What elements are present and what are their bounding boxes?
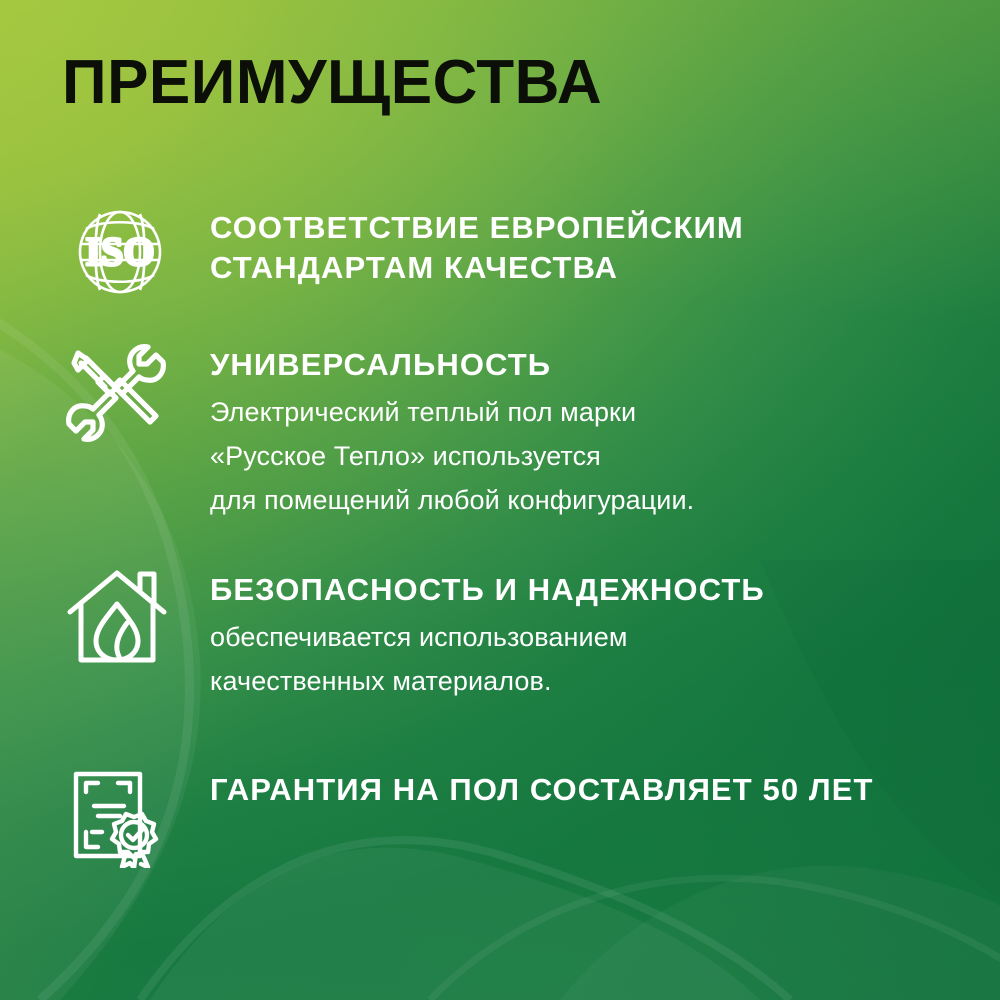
feature-body-line: обеспечивается использованием xyxy=(210,616,940,660)
feature-body-line: Электрический теплый пол марки xyxy=(210,391,940,435)
feature-body: Электрический теплый пол марки «Русское … xyxy=(210,391,940,522)
feature-body-line: для помещений любой конфигурации. xyxy=(210,479,940,523)
feature-body-line: качественных материалов. xyxy=(210,660,940,704)
promo-slide: ПРЕИМУЩЕСТВА ISO СООТВЕТСТ xyxy=(0,0,1000,1000)
feature-heading: ГАРАНТИЯ НА ПОЛ СОСТАВЛЯЕТ 50 ЛЕТ xyxy=(210,770,940,810)
feature-heading: СООТВЕТСТВИЕ ЕВРОПЕЙСКИМ СТАНДАРТАМ КАЧЕ… xyxy=(210,208,940,289)
feature-text-cell: СООТВЕТСТВИЕ ЕВРОПЕЙСКИМ СТАНДАРТАМ КАЧЕ… xyxy=(210,206,940,289)
feature-heading-line: БЕЗОПАСНОСТЬ И НАДЕЖНОСТЬ xyxy=(210,572,765,607)
feature-heading: БЕЗОПАСНОСТЬ И НАДЕЖНОСТЬ xyxy=(210,570,940,610)
feature-heading-line: УНИВЕРСАЛЬНОСТЬ xyxy=(210,347,551,382)
feature-body: обеспечивается использованием качественн… xyxy=(210,616,940,703)
feature-icon-cell: ISO xyxy=(60,206,210,298)
feature-icon-cell xyxy=(60,768,210,868)
iso-globe-icon: ISO xyxy=(64,206,176,298)
page-title: ПРЕИМУЩЕСТВА xyxy=(62,52,602,114)
feature-heading-line: СООТВЕТСТВИЕ ЕВРОПЕЙСКИМ xyxy=(210,208,940,248)
feature-body-line: «Русское Тепло» используется xyxy=(210,435,940,479)
feature-icon-cell xyxy=(60,343,210,443)
feature-heading-line: 50 ЛЕТ xyxy=(763,772,874,807)
iso-icon-label: ISO xyxy=(86,229,155,274)
feature-text-cell: УНИВЕРСАЛЬНОСТЬ Электрический теплый пол… xyxy=(210,343,940,523)
feature-item-safety: БЕЗОПАСНОСТЬ И НАДЕЖНОСТЬ обеспечивается… xyxy=(60,568,940,704)
feature-text-cell: ГАРАНТИЯ НА ПОЛ СОСТАВЛЯЕТ 50 ЛЕТ xyxy=(210,768,940,810)
feature-text-cell: БЕЗОПАСНОСТЬ И НАДЕЖНОСТЬ обеспечивается… xyxy=(210,568,940,704)
feature-heading-line: ГАРАНТИЯ НА ПОЛ СОСТАВЛЯЕТ xyxy=(210,772,753,807)
feature-item-universality: УНИВЕРСАЛЬНОСТЬ Электрический теплый пол… xyxy=(60,343,940,523)
feature-item-warranty: ГАРАНТИЯ НА ПОЛ СОСТАВЛЯЕТ 50 ЛЕТ xyxy=(60,768,940,868)
feature-heading: УНИВЕРСАЛЬНОСТЬ xyxy=(210,345,940,385)
feature-heading-line: СТАНДАРТАМ КАЧЕСТВА xyxy=(210,248,940,288)
feature-icon-cell xyxy=(60,568,210,666)
feature-item-iso: ISO СООТВЕТСТВИЕ ЕВРОПЕЙСКИМ СТАНДАРТАМ … xyxy=(60,206,940,298)
certificate-award-icon xyxy=(64,768,164,868)
screwdriver-wrench-icon xyxy=(64,343,168,443)
house-flame-icon xyxy=(64,568,170,666)
